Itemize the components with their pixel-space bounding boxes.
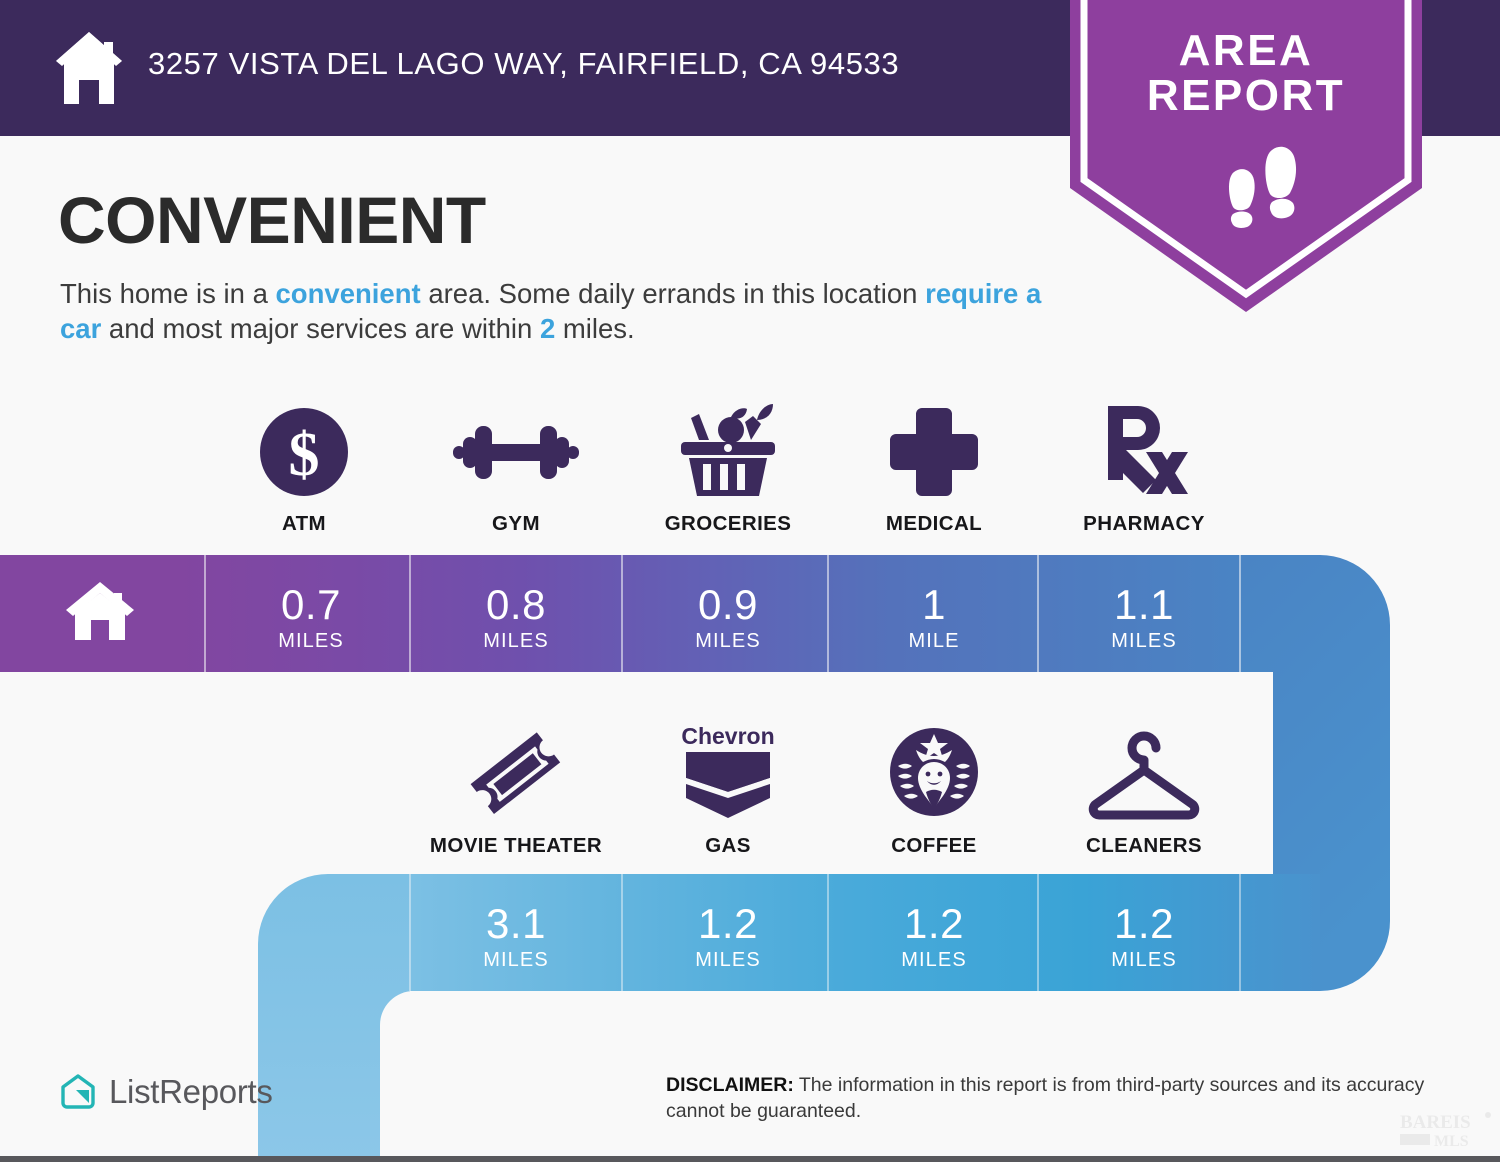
category-label: CLEANERS [1038,834,1250,858]
badge-title: AREA REPORT [1070,28,1422,118]
distance-unit: MILES [410,630,622,652]
bottom-bar [0,1156,1500,1162]
category-groceries[interactable]: GROCERIES [622,404,834,536]
distance-value: 1.2 [1038,903,1250,945]
house-icon [52,30,126,106]
distance-value: 0.7 [205,584,417,626]
distance-atm: 0.7 MILES [205,584,417,652]
category-label: GYM [410,512,622,536]
category-gas[interactable]: Chevron GAS [622,726,834,858]
badge-line-1: AREA [1070,28,1422,73]
page-subtitle: This home is in a convenient area. Some … [60,276,1050,346]
svg-text:$: $ [289,421,320,489]
distance-groceries: 0.9 MILES [622,584,834,652]
svg-text:BAREIS: BAREIS [1400,1112,1471,1133]
dollar-circle-icon: $ [198,404,410,500]
distance-unit: MILES [1038,949,1250,971]
distance-value: 3.1 [410,903,622,945]
category-medical[interactable]: MEDICAL [828,404,1040,536]
distance-coffee: 1.2 MILES [828,903,1040,971]
starbucks-coffee-icon [828,726,1040,822]
dumbbell-icon [410,404,622,500]
clothes-hanger-icon [1038,726,1250,822]
category-label: GROCERIES [622,512,834,536]
disclaimer: DISCLAIMER: The information in this repo… [666,1072,1456,1124]
category-label: GAS [622,834,834,858]
movie-ticket-icon [410,726,622,822]
distance-value: 0.9 [622,584,834,626]
distance-unit: MILES [622,630,834,652]
distance-unit: MILES [622,949,834,971]
category-coffee[interactable]: COFFEE [828,726,1040,858]
disclaimer-label: DISCLAIMER: [666,1074,794,1096]
distance-unit: MILES [205,630,417,652]
category-label: ATM [198,512,410,536]
category-label: MOVIE THEATER [410,834,622,858]
footprints-icon [1220,144,1310,240]
subtitle-part-1: This home is in a [60,278,276,309]
distance-medical: 1 MILE [828,584,1040,652]
distance-movie-theater: 3.1 MILES [410,903,622,971]
distance-unit: MILES [828,949,1040,971]
category-gym[interactable]: GYM [410,404,622,536]
distance-unit: MILE [828,630,1040,652]
distance-unit: MILES [410,949,622,971]
area-report-page: 3257 VISTA DEL LAGO WAY, FAIRFIELD, CA 9… [0,0,1500,1162]
bareis-mls-watermark: BAREIS MLS [1398,1108,1494,1152]
distance-value: 1.2 [828,903,1040,945]
brand-name: ListReports [109,1073,273,1111]
category-label: MEDICAL [828,512,1040,536]
distance-value: 0.8 [410,584,622,626]
category-label: PHARMACY [1038,512,1250,536]
subtitle-highlight-1: convenient [276,278,421,309]
distance-gas: 1.2 MILES [622,903,834,971]
subtitle-part-2: area. Some daily errands in this locatio… [421,278,925,309]
badge-line-2: REPORT [1070,73,1422,118]
medical-cross-icon [828,404,1040,500]
distance-value: 1 [828,584,1040,626]
svg-text:MLS: MLS [1434,1133,1469,1150]
rx-pharmacy-icon [1038,404,1250,500]
distance-value: 1.2 [622,903,834,945]
property-address: 3257 VISTA DEL LAGO WAY, FAIRFIELD, CA 9… [148,46,899,82]
chevron-gas-icon: Chevron [622,726,834,822]
distance-gym: 0.8 MILES [410,584,622,652]
distance-cleaners: 1.2 MILES [1038,903,1250,971]
page-title: CONVENIENT [58,186,486,254]
subtitle-part-3: and most major services are within [101,313,540,344]
listreports-logo[interactable]: ListReports [58,1072,273,1112]
category-label: COFFEE [828,834,1040,858]
area-report-badge: AREA REPORT [1070,0,1422,312]
subtitle-part-4: miles. [555,313,634,344]
category-cleaners[interactable]: CLEANERS [1038,726,1250,858]
distance-unit: MILES [1038,630,1250,652]
category-movie-theater[interactable]: MOVIE THEATER [410,726,622,858]
distance-value: 1.1 [1038,584,1250,626]
house-icon [64,580,136,642]
distance-pharmacy: 1.1 MILES [1038,584,1250,652]
category-atm[interactable]: $ ATM [198,404,410,536]
listreports-house-tag-icon [58,1072,98,1112]
svg-text:Chevron: Chevron [681,723,774,749]
category-pharmacy[interactable]: PHARMACY [1038,404,1250,536]
grocery-basket-icon [622,404,834,500]
subtitle-highlight-3: 2 [540,313,555,344]
